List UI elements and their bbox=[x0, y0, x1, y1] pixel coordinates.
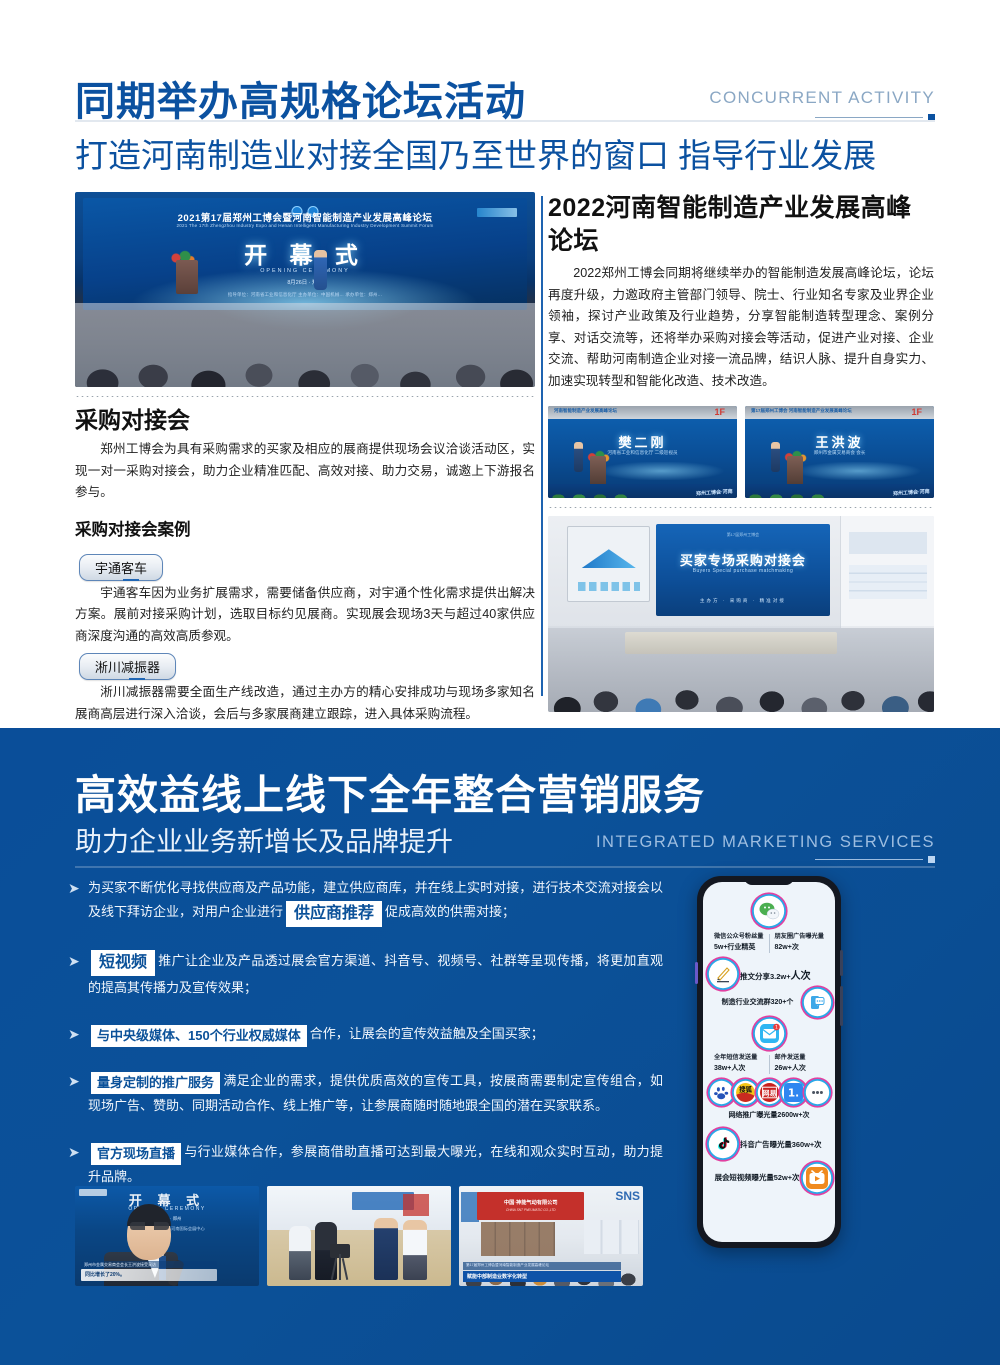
bullet-text: 官方现场直播与行业媒体合作，参展商借助直播可达到最大曝光，在线和观众实时互动，助… bbox=[88, 1140, 663, 1189]
hall-ceiling-2: 第17届郑州工博会 河南智能制造产业发展高峰论坛 1F bbox=[745, 406, 934, 419]
phone-mockup: 微信公众号粉丝量 5w+行业精英 朋友圈广告曝光量 82w+次 bbox=[697, 876, 841, 1248]
speaker-photo-pair: 河南智能制造产业发展高峰论坛 1F 樊二刚 河南省工业和信息化厅 二级巡视员 郑… bbox=[548, 406, 934, 498]
phone-power-button[interactable] bbox=[840, 986, 843, 1026]
stage-podium bbox=[176, 260, 198, 294]
more-icon[interactable] bbox=[808, 1083, 827, 1102]
podium-1 bbox=[590, 456, 606, 486]
booth-photo: 中国·神能气动有限公司 CHINA SNT PNEUMATIC CO.,LTD … bbox=[459, 1186, 643, 1286]
toutiao-icon: 1. bbox=[784, 1083, 803, 1102]
chat-bubble-icon bbox=[806, 991, 829, 1014]
bullet-text: 与中央级媒体、150个行业权威媒体合作，让展会的宣传效益触及全国买家； bbox=[88, 1022, 663, 1047]
article-share-unit: 人次 bbox=[791, 971, 811, 982]
booth-sign-red bbox=[403, 1194, 429, 1216]
banner-organizers: 指导单位：河南省工业和信息化厅 主办单位：中国机械… 承办单位：郑州… bbox=[83, 292, 527, 298]
podium-2 bbox=[787, 456, 803, 486]
row-article-share: 推文分享3.2w+人次 bbox=[703, 962, 835, 986]
media-exposure-text: 网络推广曝光量2600w+次 bbox=[703, 1110, 835, 1122]
sohu-icon: 搜狐 bbox=[736, 1083, 755, 1102]
booth-company-name: 中国·神能气动有限公司 bbox=[477, 1199, 584, 1206]
bilibili-icon bbox=[805, 1166, 829, 1190]
speaker-photo-2: 第17届郑州工博会 河南智能制造产业发展高峰论坛 1F 王洪波 郑州市金属交易商… bbox=[745, 406, 934, 498]
interviewee-glasses bbox=[130, 1222, 169, 1230]
interview-photo: 开 幕 式 OPENING CEREMONY 8月26日 · 郑州 主办单位：中… bbox=[75, 1186, 259, 1286]
right-heading: 2022河南智能制造产业发展高峰论坛 bbox=[548, 192, 934, 258]
hall-ceiling: 河南智能制造产业发展高峰论坛 1F bbox=[548, 406, 737, 419]
banner-big-text-en: OPENING CEREMONY bbox=[83, 268, 527, 274]
audience-crowd bbox=[75, 303, 535, 387]
netease-icon: 网易 bbox=[760, 1083, 779, 1102]
stat-value: 38w+人次 bbox=[714, 1063, 764, 1074]
page-subtitle: 打造河南制造业对接全国乃至世界的窗口 指导行业发展 bbox=[75, 134, 935, 178]
booth-lower-third-top: 第17届郑州工博会暨河南智能制造产业发展高峰论坛 bbox=[463, 1262, 621, 1270]
bullet-text-run: 推广让企业及产品透过展会官方渠道、抖音号、视频号、社群等呈现传播，将更加直观的提… bbox=[88, 953, 663, 995]
svg-text:1: 1 bbox=[775, 1025, 778, 1031]
row-short-video: 展会短视频曝光量52w+次 bbox=[703, 1166, 835, 1190]
marketing-bullet-3: ➤与中央级媒体、150个行业权威媒体合作，让展会的宣传效益触及全国买家； bbox=[68, 1022, 663, 1047]
lower-third-top-text: 郑州市金属交易商会会长王洪波接受采访 bbox=[84, 1262, 156, 1268]
booth-lower-third-top-text: 第17届郑州工博会暨河南智能制造产业发展高峰论坛 bbox=[466, 1263, 549, 1268]
side-booth-panels bbox=[840, 516, 934, 628]
stage-plants-1 bbox=[548, 487, 652, 498]
case-badge-xichuan[interactable]: 淅川减振器 bbox=[79, 653, 176, 680]
mail-icon: 1 bbox=[757, 1021, 782, 1046]
bullet-text: 量身定制的推广服务满足企业的需求，提供优质高效的宣传工具，按展商需要制定宣传组合… bbox=[88, 1069, 663, 1118]
dotted-divider-1 bbox=[75, 396, 535, 397]
svg-text:搜狐: 搜狐 bbox=[739, 1085, 752, 1094]
booth-company-name-en: CHINA SNT PNEUMATIC CO.,LTD bbox=[477, 1208, 584, 1212]
photo1-header-text: 河南智能制造产业发展高峰论坛 bbox=[554, 408, 617, 414]
short-video-exposure-text: 展会短视频曝光量52w+次 bbox=[709, 1172, 805, 1184]
baidu-icon bbox=[712, 1083, 731, 1102]
wechat-icon bbox=[756, 898, 782, 924]
tripod-leg-center bbox=[339, 1254, 341, 1280]
case-heading: 采购对接会案例 bbox=[75, 518, 535, 542]
pencil-icon bbox=[711, 962, 735, 986]
marketing-title-en: INTEGRATED MARKETING SERVICES bbox=[596, 833, 935, 852]
marketing-header-divider bbox=[75, 866, 935, 868]
phone-screen: 微信公众号粉丝量 5w+行业精英 朋友圈广告曝光量 82w+次 bbox=[703, 882, 835, 1242]
lower-third-text: 同比增长了20%。 bbox=[85, 1271, 125, 1278]
svg-text:网易: 网易 bbox=[762, 1088, 776, 1097]
speaker-photo-1: 河南智能制造产业发展高峰论坛 1F 樊二刚 河南省工业和信息化厅 二级巡视员 郑… bbox=[548, 406, 737, 498]
person-interviewer bbox=[374, 1218, 398, 1280]
tripod-leg-right bbox=[342, 1258, 349, 1280]
projection-screen bbox=[567, 526, 650, 602]
buyer-banner-title-en: Buyers Special purchase matchmaking bbox=[656, 568, 830, 574]
header-divider bbox=[75, 120, 935, 122]
stat-email: 邮件发送量 26w+人次 bbox=[770, 1053, 830, 1074]
stat-value: 26w+人次 bbox=[775, 1063, 825, 1074]
bullet-arrow-icon: ➤ bbox=[68, 878, 88, 898]
mail-icon-wrap: 1 bbox=[703, 1021, 835, 1046]
marketing-header: 高效益线上线下全年整合营销服务 助力企业业务新增长及品牌提升 INTEGRATE… bbox=[75, 770, 935, 862]
bullet-text: 短视频推广让企业及产品透过展会官方渠道、抖音号、视频号、社群等呈现传播，将更加直… bbox=[88, 949, 663, 1000]
buyer-banner-title: 买家专场采购对接会 bbox=[656, 550, 830, 569]
stat-value: 82w+次 bbox=[775, 942, 825, 953]
left-paragraph: 郑州工博会为具有采购需求的买家及相应的展商提供现场会议洽谈活动区，实现一对一采购… bbox=[75, 439, 535, 504]
photo2-header-text: 第17届郑州工博会 河南智能制造产业发展高峰论坛 bbox=[751, 408, 852, 414]
marketing-bullet-4: ➤量身定制的推广服务满足企业的需求，提供优质高效的宣传工具，按展商需要制定宣传组… bbox=[68, 1069, 663, 1118]
booth-lower-third-text: 赋能中部制造业数字化转型 bbox=[467, 1273, 527, 1280]
case-text-1: 宇通客车因为业务扩展需求，需要储备供应商，对宇通个性化需求提供出解决方案。展前对… bbox=[75, 583, 535, 648]
bottom-photo-strip: 开 幕 式 OPENING CEREMONY 8月26日 · 郑州 主办单位：中… bbox=[75, 1186, 643, 1286]
bullet-highlight: 量身定制的推广服务 bbox=[91, 1072, 220, 1094]
bullet-text-run: 促成高效的供需对接； bbox=[385, 904, 515, 919]
media-interview-photo bbox=[267, 1186, 451, 1286]
bullet-highlight: 官方现场直播 bbox=[91, 1143, 181, 1165]
stat-value: 5w+行业精英 bbox=[714, 942, 764, 953]
stage-plants-2 bbox=[745, 487, 849, 498]
stats-pair-1: 微信公众号粉丝量 5w+行业精英 朋友圈广告曝光量 82w+次 bbox=[703, 932, 835, 953]
stat-moments-ads: 朋友圈广告曝光量 82w+次 bbox=[770, 932, 830, 953]
buyer-banner: 第17届郑州工博会 买家专场采购对接会 Buyers Special purch… bbox=[656, 524, 830, 616]
douyin-icon bbox=[711, 1132, 735, 1156]
floor-tag-1: 1F bbox=[714, 407, 725, 417]
stat-label: 全年短信发送量 bbox=[714, 1053, 764, 1063]
stage-screen: 2021第17届郑州工博会暨河南智能制造产业发展高峰论坛 2021 The 17… bbox=[83, 198, 527, 310]
marketing-bullet-list: ➤为买家不断优化寻找供应商及产品功能，建立供应商库，并在线上实时对接，进行技术交… bbox=[68, 876, 663, 1211]
buyer-banner-footer: 主办方 · 采购商 · 精准对接 bbox=[656, 598, 830, 604]
article-share-text: 推文分享3.2w+人次 bbox=[740, 967, 811, 982]
stats-pair-2: 全年短信发送量 38w+人次 邮件发送量 26w+人次 bbox=[703, 1053, 835, 1074]
douyin-exposure-text: 抖音广告曝光量360w+次 bbox=[740, 1139, 822, 1150]
row-industry-group: 制造行业交流群320+个 bbox=[703, 991, 835, 1014]
stat-wechat-followers: 微信公众号粉丝量 5w+行业精英 bbox=[709, 932, 769, 953]
right-paragraph: 2022郑州工博会同期将继续举办的智能制造发展高峰论坛，论坛再度升级，力邀政府主… bbox=[548, 263, 934, 392]
forum-opening-photo: 2021第17届郑州工博会暨河南智能制造产业发展高峰论坛 2021 The 17… bbox=[75, 192, 535, 387]
meeting-attendees bbox=[548, 626, 934, 712]
forum-section: 同期举办高规格论坛活动 CONCURRENT ACTIVITY 打造河南制造业对… bbox=[0, 0, 1000, 728]
floor-tag-2: 1F bbox=[911, 407, 922, 417]
stat-label: 朋友圈广告曝光量 bbox=[775, 932, 825, 942]
case-item-2: 淅川减振器 淅川减振器需要全面生产线改造，通过主办方的精心安排成功与现场多家知名… bbox=[75, 647, 535, 725]
dotted-divider-2 bbox=[548, 507, 934, 508]
section-header: 同期举办高规格论坛活动 CONCURRENT ACTIVITY 打造河南制造业对… bbox=[75, 78, 935, 178]
bullet-arrow-icon: ➤ bbox=[68, 1024, 88, 1044]
marketing-bullet-2: ➤短视频推广让企业及产品透过展会官方渠道、抖音号、视频号、社群等呈现传播，将更加… bbox=[68, 949, 663, 1000]
banner-title-en: 2021 The 17th Zhengzhou Industry Expo an… bbox=[83, 223, 527, 228]
marketing-bullet-5: ➤官方现场直播与行业媒体合作，参展商借助直播可达到最大曝光，在线和观众实时互动，… bbox=[68, 1140, 663, 1189]
sns-logo: SNS bbox=[615, 1189, 640, 1203]
right-column: 2022河南智能制造产业发展高峰论坛 2022郑州工博会同期将继续举办的智能制造… bbox=[548, 192, 934, 712]
buyer-matchmaking-photo: 第17届郑州工博会 买家专场采购对接会 Buyers Special purch… bbox=[548, 516, 934, 712]
case-item-1: 宇通客车 宇通客车因为业务扩展需求，需要储备供应商，对宇通个性化需求提供出解决方… bbox=[75, 548, 535, 648]
lower-third-top: 郑州市金属交易商会会长王洪波接受采访 bbox=[81, 1261, 217, 1268]
phone-side-button[interactable] bbox=[695, 962, 698, 984]
bullet-text: 为买家不断优化寻找供应商及产品功能，建立供应商库，并在线上实时对接，进行技术交流… bbox=[88, 876, 663, 927]
bullet-highlight: 供应商推荐 bbox=[286, 901, 382, 927]
marketing-section: 高效益线上线下全年整合营销服务 助力企业业务新增长及品牌提升 INTEGRATE… bbox=[0, 728, 1000, 1365]
stat-label: 微信公众号粉丝量 bbox=[714, 932, 764, 942]
industry-group-text: 制造行业交流群320+个 bbox=[709, 997, 806, 1009]
buyer-banner-top: 第17届郑州工博会 bbox=[656, 532, 830, 538]
bullet-text-run: 合作，让展会的宣传效益触及全国买家； bbox=[310, 1026, 544, 1041]
bullet-arrow-icon: ➤ bbox=[68, 1142, 88, 1162]
left-column: 2021第17届郑州工博会暨河南智能制造产业发展高峰论坛 2021 The 17… bbox=[75, 192, 535, 725]
page-title-en: CONCURRENT ACTIVITY bbox=[709, 88, 935, 108]
bullet-arrow-icon: ➤ bbox=[68, 951, 88, 971]
bullet-highlight: 与中央级媒体、150个行业权威媒体 bbox=[91, 1025, 307, 1047]
wechat-icon-wrap bbox=[703, 898, 835, 924]
phone-notch bbox=[744, 876, 794, 885]
svg-text:1.: 1. bbox=[787, 1088, 798, 1100]
left-heading: 采购对接会 bbox=[75, 405, 535, 435]
case-text-2: 淅川减振器需要全面生产线改造，通过主办方的精心安排成功与现场多家知名展商高层进行… bbox=[75, 682, 535, 725]
column-divider bbox=[541, 196, 543, 696]
article-share-label: 推文分享3.2w+ bbox=[740, 972, 791, 981]
marketing-title: 高效益线上线下全年整合营销服务 bbox=[75, 770, 935, 820]
poster-page: 同期举办高规格论坛活动 CONCURRENT ACTIVITY 打造河南制造业对… bbox=[0, 0, 1000, 1365]
header-title-row: 同期举办高规格论坛活动 CONCURRENT ACTIVITY bbox=[75, 78, 935, 130]
marketing-bullet-1: ➤为买家不断优化寻找供应商及产品功能，建立供应商库，并在线上实时对接，进行技术交… bbox=[68, 876, 663, 927]
bullet-arrow-icon: ➤ bbox=[68, 1071, 88, 1091]
banner-title: 2021第17届郑州工博会暨河南智能制造产业发展高峰论坛 bbox=[83, 210, 527, 224]
booth-lower-third: 赋能中部制造业数字化转型 bbox=[463, 1271, 621, 1282]
media-icon-row: 搜狐 网易 1. bbox=[703, 1083, 835, 1102]
lower-third: 同比增长了20%。 bbox=[81, 1269, 217, 1281]
stat-label: 邮件发送量 bbox=[775, 1053, 825, 1063]
banner-date: 8月26日 · 郑州 bbox=[83, 278, 527, 286]
bullet-highlight: 短视频 bbox=[91, 950, 155, 976]
person-interviewee bbox=[403, 1220, 427, 1280]
speaker-figure-1 bbox=[574, 442, 583, 472]
phone-volume-button[interactable] bbox=[840, 950, 843, 976]
booth-header-sign: 中国·神能气动有限公司 CHINA SNT PNEUMATIC CO.,LTD bbox=[477, 1192, 584, 1220]
marketing-header-rule bbox=[815, 856, 935, 864]
stage-speaker bbox=[314, 250, 327, 290]
stat-sms: 全年短信发送量 38w+人次 bbox=[709, 1053, 769, 1074]
case-badge-yutong[interactable]: 宇通客车 bbox=[79, 554, 163, 581]
person-1 bbox=[289, 1226, 311, 1280]
banner-big-text: 开 幕 式 bbox=[83, 236, 527, 270]
speaker-figure-2 bbox=[771, 442, 780, 472]
backdrop-big-text-en: OPENING CEREMONY bbox=[75, 1206, 259, 1212]
row-douyin: 抖音广告曝光量360w+次 bbox=[703, 1132, 835, 1156]
